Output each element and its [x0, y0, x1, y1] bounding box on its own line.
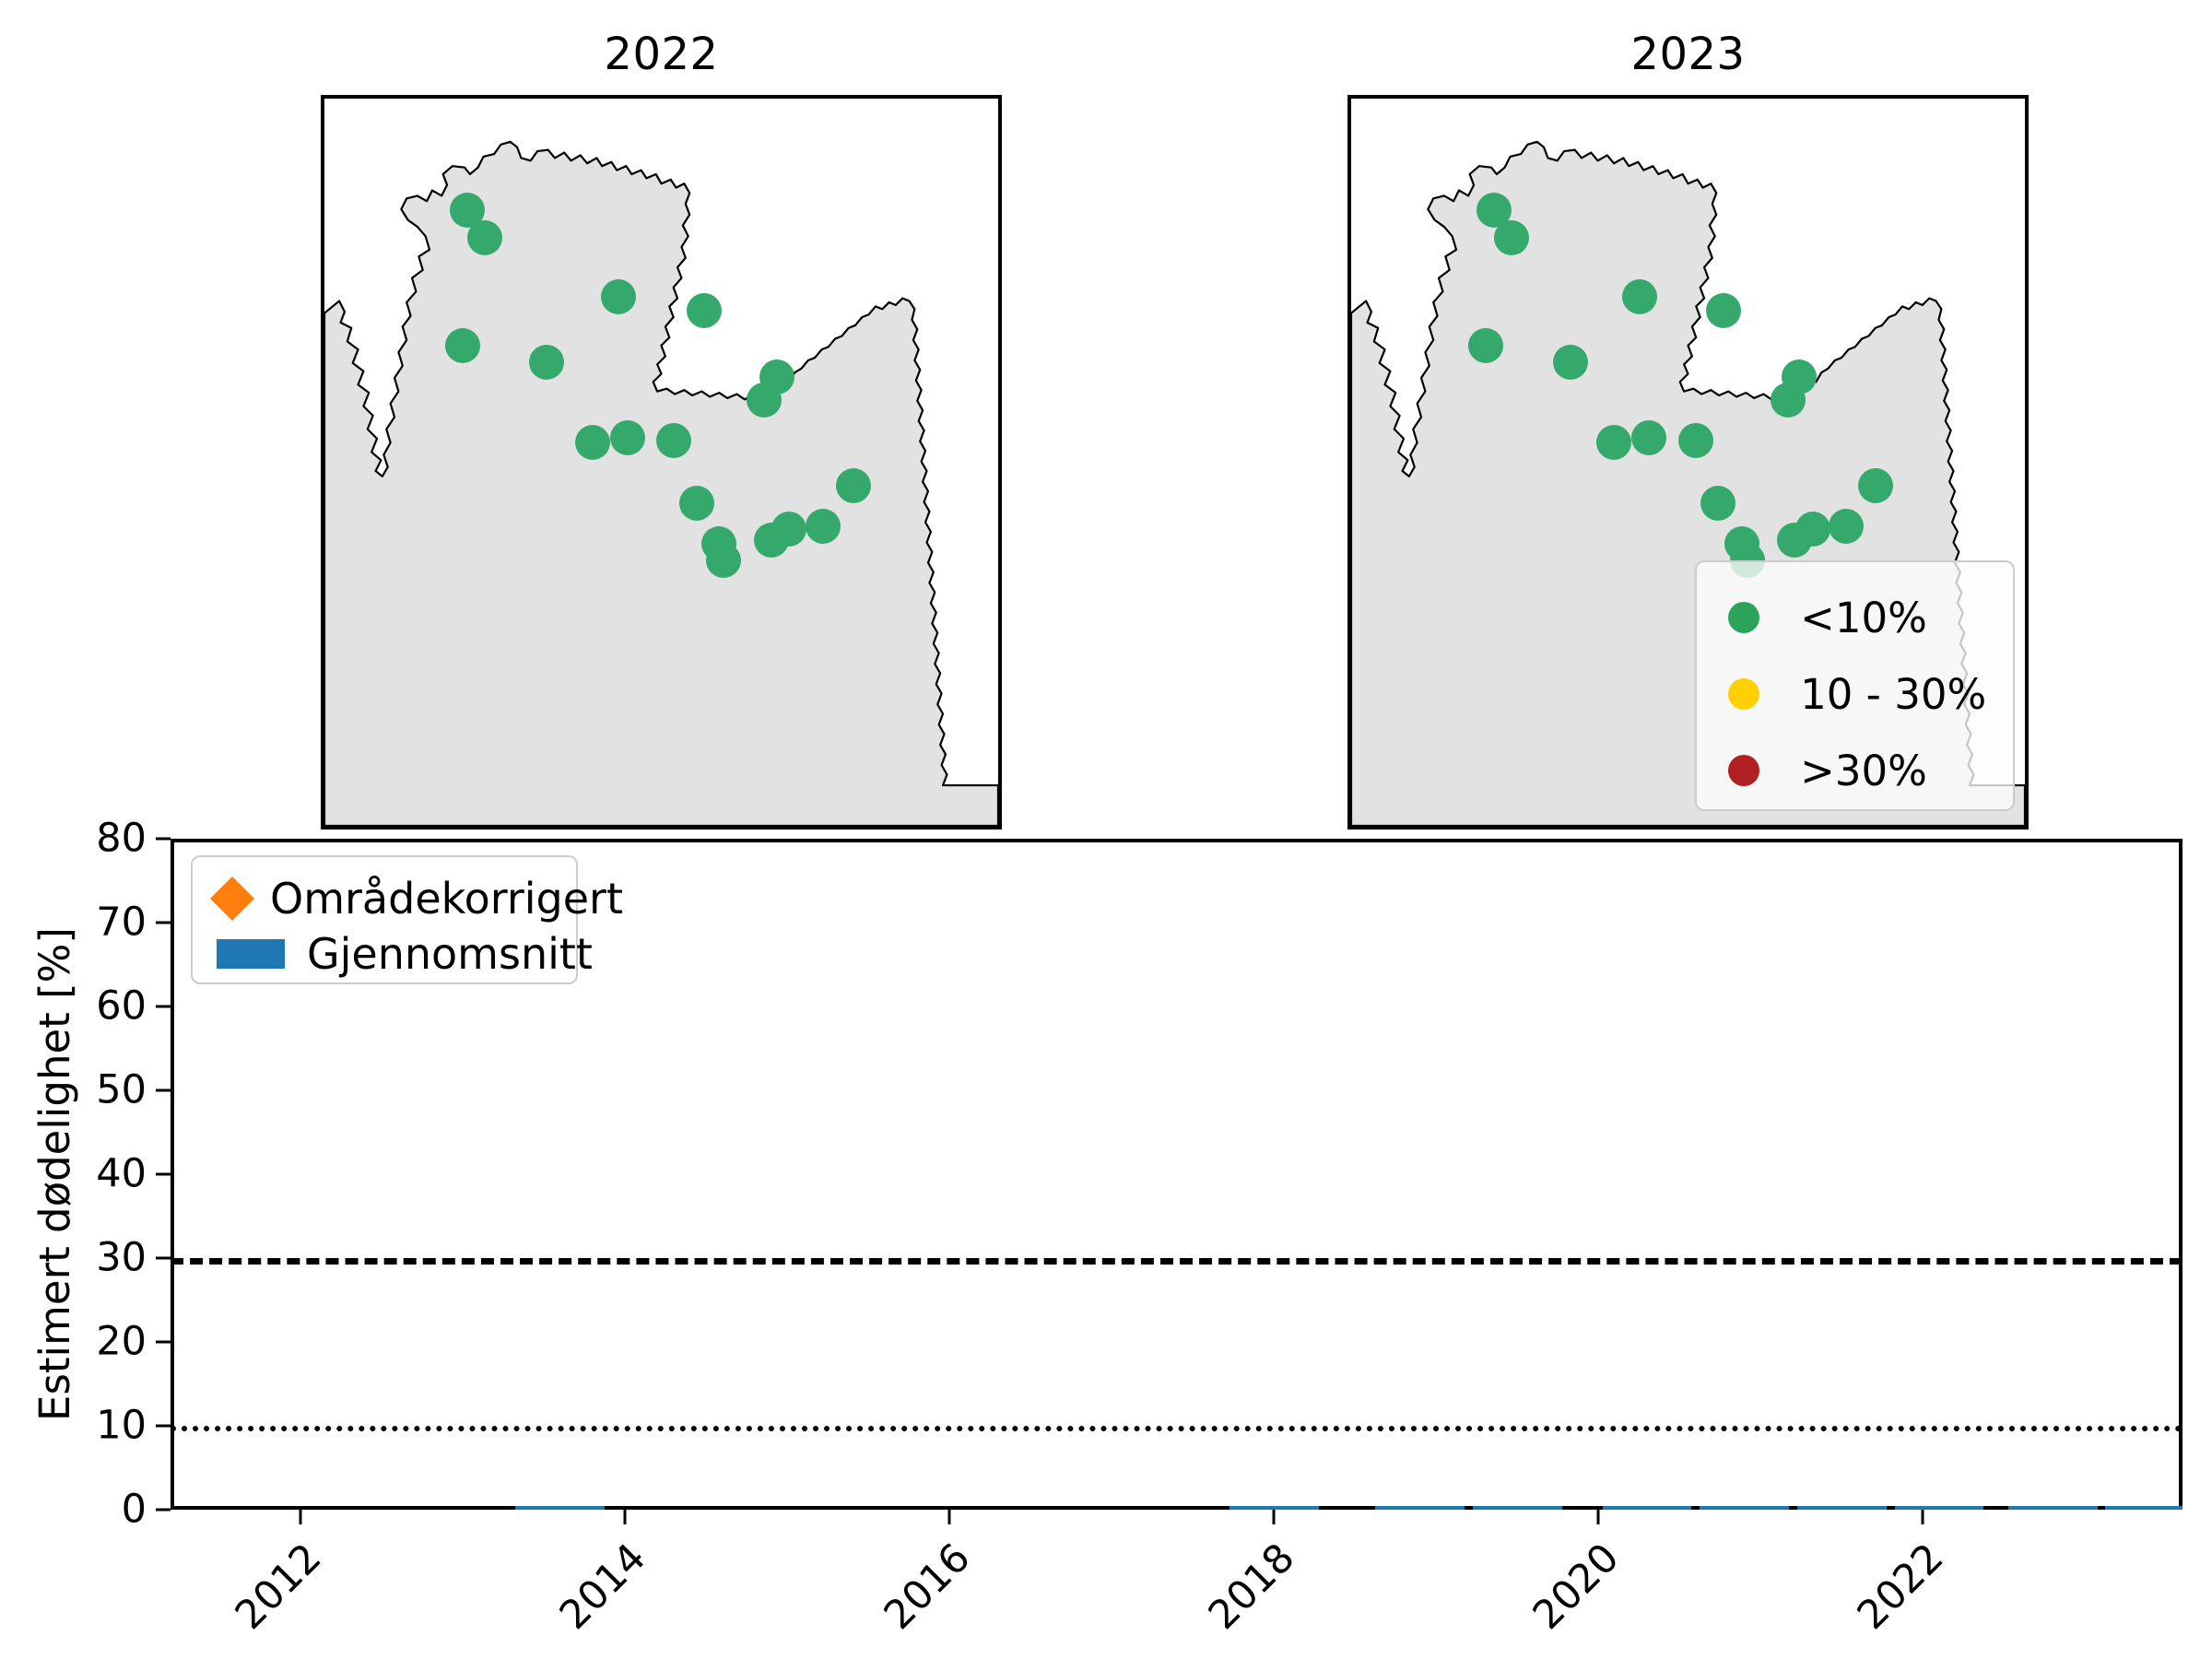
legend-dot-yellow: [1728, 678, 1759, 710]
y-tick-mark: [156, 1173, 171, 1176]
map-dot: [575, 425, 610, 460]
map-dots-2022: [324, 99, 998, 826]
map-dot: [1700, 486, 1735, 521]
map-dot: [1795, 512, 1830, 547]
y-tick-mark: [156, 1089, 171, 1092]
map-dot: [771, 512, 806, 547]
diamond-marker-icon: [210, 877, 254, 921]
mortality-chart: Estimert dødelighet [%] 0102030405060708…: [171, 839, 2183, 1510]
legend-row-low: <10%: [1728, 597, 1927, 639]
y-tick-mark: [156, 1006, 171, 1008]
figure-root: 2022: [0, 0, 2212, 1659]
x-tick-label: 2020: [1527, 1537, 1627, 1637]
legend-label-gjennomsnitt: Gjennomsnitt: [307, 933, 593, 975]
map-panel-2022: 2022: [321, 95, 1002, 829]
map-dot: [1468, 328, 1503, 363]
map-dot: [656, 423, 691, 458]
map-dot: [1771, 382, 1806, 418]
x-tick-mark: [1597, 1510, 1600, 1524]
x-tick-label: 2016: [878, 1537, 978, 1637]
map-frame-2022: [321, 95, 1002, 829]
legend-dot-green: [1728, 602, 1759, 633]
map-legend: <10% 10 - 30% >30%: [1695, 560, 2015, 811]
x-tick-mark: [1922, 1510, 1924, 1524]
legend-row-omradekorrigert: Områdekorrigert: [217, 877, 567, 920]
x-tick-mark: [623, 1510, 626, 1524]
map-dot: [679, 486, 714, 521]
chart-legend: Områdekorrigert Gjennomsnitt: [191, 855, 578, 984]
map-dot: [610, 420, 645, 455]
map-dot: [806, 509, 841, 544]
map-dot: [445, 328, 480, 363]
map-dot: [601, 279, 636, 314]
y-axis-label: Estimert dødelighet [%]: [34, 839, 76, 1510]
legend-row-gjennomsnitt: Gjennomsnitt: [217, 933, 567, 975]
map-panel-2023: 2023 <10% 10 - 30%: [1347, 95, 2029, 829]
map-dot: [1494, 220, 1529, 255]
map-dot: [467, 220, 502, 255]
x-tick-label: 2022: [1852, 1537, 1951, 1637]
x-tick-label: 2012: [229, 1537, 328, 1637]
map-dot: [687, 293, 722, 328]
y-tick-mark: [156, 1257, 171, 1260]
x-tick-label: 2014: [554, 1537, 653, 1637]
map-title-2023: 2023: [1347, 32, 2029, 76]
map-dot: [1706, 293, 1741, 328]
legend-label-low: <10%: [1800, 597, 1927, 639]
y-tick-mark: [156, 922, 171, 924]
x-tick-mark: [1273, 1510, 1276, 1524]
map-dot: [706, 543, 741, 578]
map-dot: [1553, 345, 1588, 380]
map-dot: [1596, 425, 1631, 460]
legend-row-mid: 10 - 30%: [1728, 674, 1986, 715]
map-dot: [836, 468, 871, 503]
x-tick-mark: [299, 1510, 301, 1524]
map-dot: [1631, 420, 1666, 455]
map-dot: [1622, 279, 1657, 314]
legend-label-high: >30%: [1800, 750, 1927, 792]
map-dot: [529, 345, 564, 380]
map-dot: [1829, 509, 1864, 544]
y-tick-mark: [156, 838, 171, 841]
legend-dot-red: [1728, 755, 1759, 786]
bar-marker-icon: [217, 939, 285, 969]
map-dot: [1678, 423, 1713, 458]
map-dot: [1858, 468, 1893, 503]
y-tick-mark: [156, 1425, 171, 1428]
legend-row-high: >30%: [1728, 750, 1927, 792]
map-frame-2023: <10% 10 - 30% >30%: [1347, 95, 2029, 829]
map-dot: [747, 382, 782, 418]
y-tick-mark: [156, 1509, 171, 1512]
x-tick-mark: [948, 1510, 951, 1524]
y-tick-mark: [156, 1341, 171, 1344]
map-title-2022: 2022: [321, 32, 1002, 76]
legend-label-mid: 10 - 30%: [1800, 674, 1986, 715]
x-tick-label: 2018: [1203, 1537, 1302, 1637]
legend-label-omradekorrigert: Områdekorrigert: [270, 877, 623, 920]
